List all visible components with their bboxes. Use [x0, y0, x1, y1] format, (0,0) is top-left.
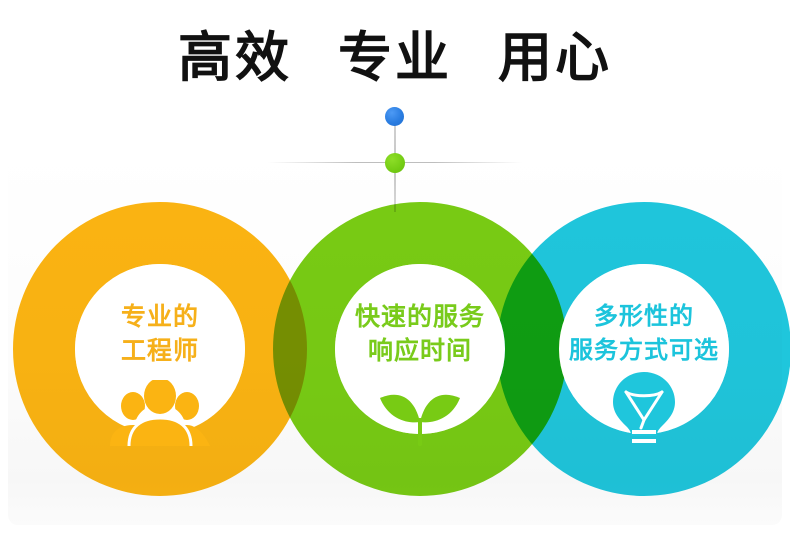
card-response-title: 快速的服务 响应时间 — [305, 300, 535, 368]
card-flexible[interactable]: 多形性的 服务方式可选 — [529, 300, 759, 446]
sprout-leaf-icon — [305, 374, 535, 446]
card-response-line1: 快速的服务 — [355, 303, 485, 331]
card-engineers-line2: 工程师 — [45, 334, 275, 368]
card-response[interactable]: 快速的服务 响应时间 — [305, 300, 535, 446]
poster-canvas: 高效专业用心 专业的 工程师 — [0, 0, 790, 557]
people-group-icon — [45, 374, 275, 446]
card-engineers-line1: 专业的 — [121, 303, 199, 331]
card-engineers[interactable]: 专业的 工程师 — [45, 300, 275, 446]
lightbulb-icon — [529, 374, 759, 446]
card-flexible-line2: 服务方式可选 — [529, 334, 759, 368]
card-flexible-title: 多形性的 服务方式可选 — [529, 300, 759, 368]
card-flexible-line1: 多形性的 — [594, 303, 694, 330]
card-response-line2: 响应时间 — [305, 334, 535, 368]
card-engineers-title: 专业的 工程师 — [45, 300, 275, 368]
